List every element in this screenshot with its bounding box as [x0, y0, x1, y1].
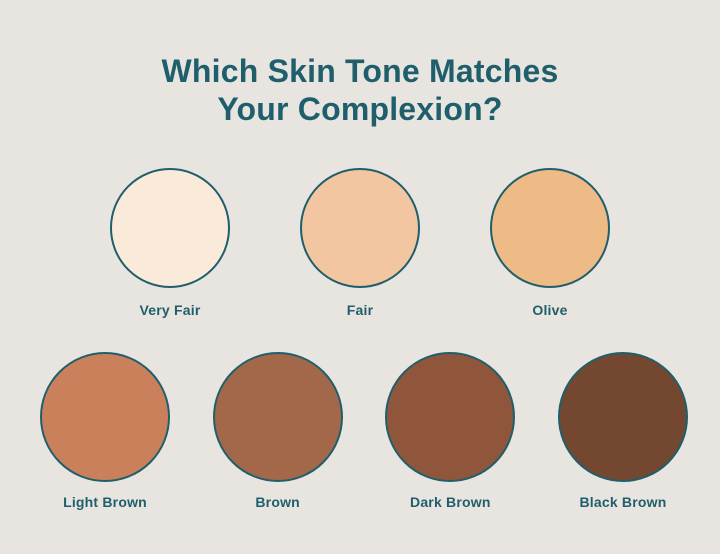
swatch-very-fair[interactable]: Very Fair: [110, 168, 230, 318]
swatch-circle-olive[interactable]: [490, 168, 610, 288]
title-line-1: Which Skin Tone Matches: [0, 52, 720, 90]
swatch-row-bottom: Light Brown Brown Dark Brown Black Brown: [40, 352, 688, 510]
swatch-label-light-brown: Light Brown: [63, 494, 147, 510]
swatch-label-brown: Brown: [255, 494, 300, 510]
swatch-brown[interactable]: Brown: [213, 352, 343, 510]
swatch-circle-very-fair[interactable]: [110, 168, 230, 288]
page-title: Which Skin Tone Matches Your Complexion?: [0, 52, 720, 128]
swatch-label-olive: Olive: [532, 302, 567, 318]
swatch-circle-black-brown[interactable]: [558, 352, 688, 482]
swatch-circle-fair[interactable]: [300, 168, 420, 288]
swatch-fair[interactable]: Fair: [300, 168, 420, 318]
swatch-olive[interactable]: Olive: [490, 168, 610, 318]
swatch-label-very-fair: Very Fair: [140, 302, 201, 318]
swatch-circle-light-brown[interactable]: [40, 352, 170, 482]
skin-tone-infographic: Which Skin Tone Matches Your Complexion?…: [0, 0, 720, 554]
swatch-label-dark-brown: Dark Brown: [410, 494, 491, 510]
swatch-circle-dark-brown[interactable]: [385, 352, 515, 482]
swatch-label-fair: Fair: [347, 302, 373, 318]
swatch-black-brown[interactable]: Black Brown: [558, 352, 688, 510]
swatch-light-brown[interactable]: Light Brown: [40, 352, 170, 510]
swatch-label-black-brown: Black Brown: [579, 494, 666, 510]
swatch-row-top: Very Fair Fair Olive: [110, 168, 610, 318]
swatch-dark-brown[interactable]: Dark Brown: [385, 352, 515, 510]
title-line-2: Your Complexion?: [0, 90, 720, 128]
swatch-circle-brown[interactable]: [213, 352, 343, 482]
